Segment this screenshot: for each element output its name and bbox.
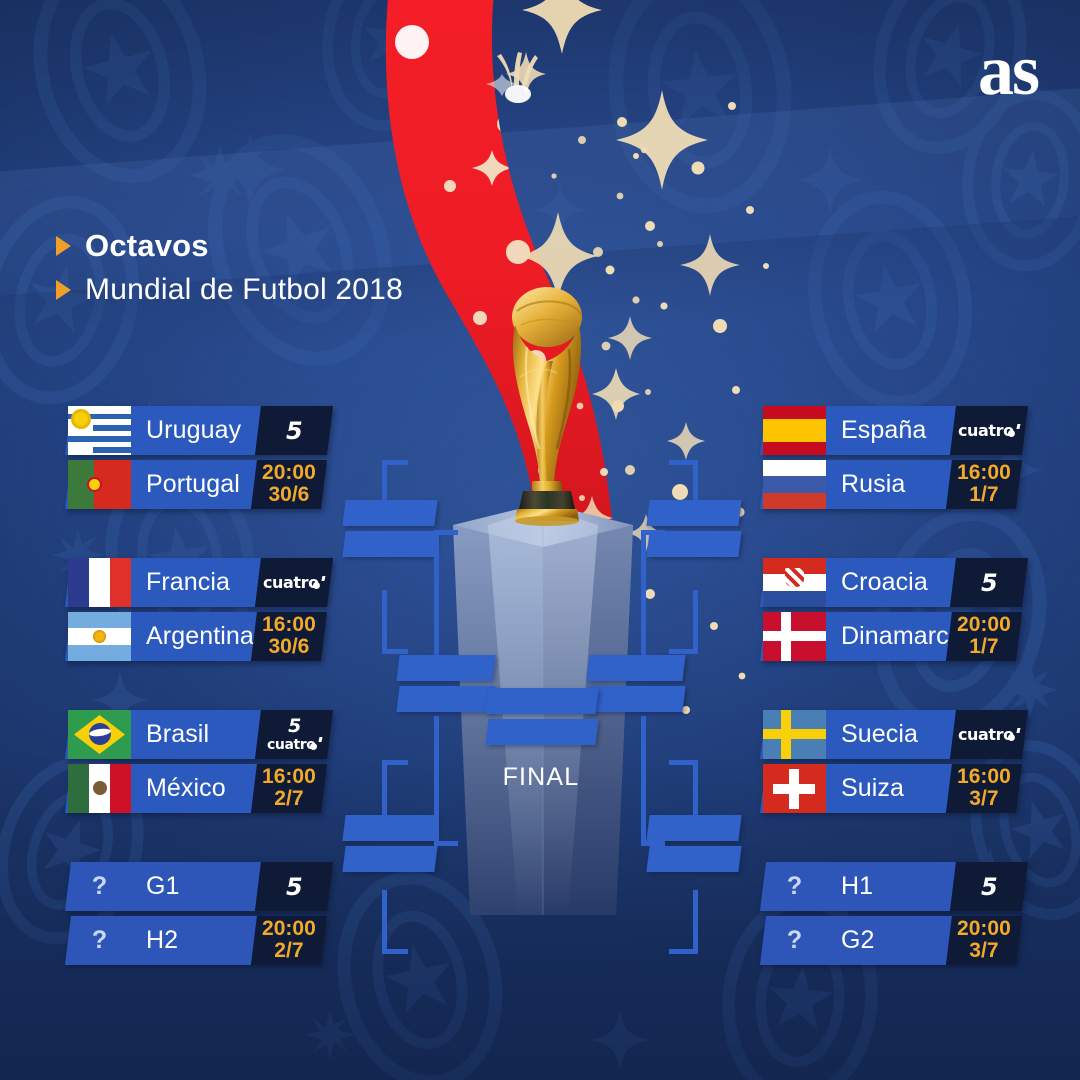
flag-portugal [68, 460, 131, 509]
flag-brasil [68, 710, 131, 759]
match-time: 16:003/7 [957, 766, 1011, 810]
bracket-line-stub [382, 460, 408, 465]
match-date: 30/6 [262, 485, 316, 507]
flag-francia [68, 558, 131, 607]
bracket-slot[interactable] [646, 815, 741, 841]
match-time: 20:002/7 [262, 918, 316, 962]
team-name: Francia [131, 568, 230, 597]
cuatro-logo: cuatro [958, 727, 1020, 743]
flag-suecia [763, 710, 826, 759]
time-badge[interactable]: 16:002/7 [251, 764, 327, 813]
bracket-line-stub [669, 649, 695, 654]
team-name: H1 [826, 872, 873, 901]
team-name: H2 [131, 926, 178, 955]
cuatro-logo: cuatro [263, 575, 325, 591]
match-time: 16:0030/6 [262, 614, 316, 658]
time-badge[interactable]: 20:003/7 [946, 916, 1022, 965]
bracket-slot[interactable] [396, 686, 495, 712]
team-name: Argentina [131, 622, 254, 651]
flag-espana [763, 406, 826, 455]
bracket-line-vertical [434, 716, 439, 846]
team-name: México [131, 774, 226, 803]
bracket-line-stub [434, 841, 458, 846]
bracket-line-stub [669, 760, 695, 765]
bracket-slot[interactable] [646, 500, 741, 526]
flag-suiza [763, 764, 826, 813]
bracket-slot[interactable] [396, 655, 495, 681]
channel-badge[interactable]: 5 [950, 558, 1028, 607]
bracket-line-stub [669, 949, 695, 954]
cuatro-logo: cuatro [267, 737, 322, 752]
unknown-team-icon: ? [68, 872, 131, 901]
triangle-bullet-icon [56, 280, 71, 300]
team-block[interactable]: Suiza [760, 764, 952, 813]
bracket-line-vertical [434, 530, 439, 660]
flag-dinamarca [763, 612, 826, 661]
bracket-slot[interactable] [586, 655, 685, 681]
triangle-bullet-icon [56, 236, 71, 256]
match-row[interactable]: Francia cuatro [68, 558, 330, 607]
title-row: Octavos [56, 228, 403, 264]
match-row[interactable]: Uruguay 5 [68, 406, 330, 455]
team-block[interactable]: Suecia [760, 710, 956, 759]
team-block[interactable]: ? H2 [65, 916, 257, 965]
team-block[interactable]: Croacia [760, 558, 956, 607]
match-time: 20:003/7 [957, 918, 1011, 962]
match-card[interactable]: ? H1 5 ? G2 20:003/7 [763, 862, 1025, 965]
team-block[interactable]: Francia [65, 558, 261, 607]
match-date: 2/7 [262, 941, 316, 963]
telecinco-logo: 5 [286, 419, 302, 443]
team-block[interactable]: México [65, 764, 257, 813]
bracket-slot[interactable] [646, 846, 741, 872]
match-row[interactable]: ? G2 20:003/7 [763, 916, 1025, 965]
match-row[interactable]: México 16:002/7 [68, 764, 330, 813]
team-block[interactable]: Portugal [65, 460, 257, 509]
match-time: 16:001/7 [957, 462, 1011, 506]
bracket-slot[interactable] [342, 500, 437, 526]
infographic-canvas: as Octavos Mundial de Futbol 2018 [0, 0, 1080, 1080]
page-title-block: Octavos Mundial de Futbol 2018 [56, 228, 403, 316]
team-block[interactable]: ? H1 [760, 862, 956, 911]
subtitle-row: Mundial de Futbol 2018 [56, 273, 403, 307]
channel-badge[interactable]: cuatro [950, 710, 1028, 759]
channel-badge[interactable]: 5cuatro [255, 710, 333, 759]
bracket-line-stub [641, 530, 665, 535]
bracket-line-stub [641, 841, 665, 846]
match-card[interactable]: Uruguay 5 Portugal 20:0030/6 [68, 406, 330, 509]
match-row[interactable]: Suecia cuatro [763, 710, 1025, 759]
flag-rusia [763, 460, 826, 509]
bracket-line-vertical [693, 590, 698, 654]
match-card[interactable]: Suecia cuatro Suiza 16:003/7 [763, 710, 1025, 813]
channel-badge[interactable]: 5 [255, 406, 333, 455]
match-row[interactable]: Suiza 16:003/7 [763, 764, 1025, 813]
channel-logo-group: 5cuatro [267, 717, 322, 752]
match-date: 30/6 [262, 637, 316, 659]
unknown-team-icon: ? [763, 872, 826, 901]
time-badge[interactable]: 20:001/7 [946, 612, 1022, 661]
bracket-line-vertical [382, 590, 387, 654]
match-row[interactable]: Portugal 20:0030/6 [68, 460, 330, 509]
telecinco-logo: 5 [981, 875, 997, 899]
unknown-team-icon: ? [68, 926, 131, 955]
team-name: Dinamarca [826, 622, 963, 651]
match-row[interactable]: Dinamarca 20:001/7 [763, 612, 1025, 661]
team-name: España [826, 416, 926, 445]
bracket-line-stub [669, 460, 695, 465]
telecinco-logo: 5 [286, 875, 302, 899]
final-slot-pair[interactable] [487, 688, 597, 745]
team-block[interactable]: Rusia [760, 460, 952, 509]
time-badge[interactable]: 16:003/7 [946, 764, 1022, 813]
team-name: G2 [826, 926, 875, 955]
semifinal-slot-pair[interactable] [588, 655, 684, 712]
match-card[interactable]: España cuatro Rusia 16:001/7 [763, 406, 1025, 509]
page-subtitle: Mundial de Futbol 2018 [85, 273, 403, 307]
time-badge[interactable]: 20:002/7 [251, 916, 327, 965]
quarterfinal-slot-pair[interactable] [344, 500, 436, 557]
match-row[interactable]: ? H2 20:002/7 [68, 916, 330, 965]
team-name: Uruguay [131, 416, 241, 445]
as-diario-logo[interactable]: as [978, 34, 1038, 106]
match-date: 1/7 [957, 485, 1011, 507]
team-name: Suiza [826, 774, 904, 803]
bracket-line-vertical [641, 530, 646, 660]
time-badge[interactable]: 16:001/7 [946, 460, 1022, 509]
match-date: 2/7 [262, 789, 316, 811]
bracket-line-vertical [693, 890, 698, 954]
match-date: 1/7 [957, 637, 1011, 659]
channel-badge[interactable]: cuatro [950, 406, 1028, 455]
match-row[interactable]: ? H1 5 [763, 862, 1025, 911]
match-date: 3/7 [957, 789, 1011, 811]
match-row[interactable]: Rusia 16:001/7 [763, 460, 1025, 509]
team-block[interactable]: ? G2 [760, 916, 952, 965]
team-name: Brasil [131, 720, 209, 749]
page-title: Octavos [85, 228, 209, 264]
channel-badge[interactable]: 5 [255, 862, 333, 911]
team-block[interactable]: Brasil [65, 710, 261, 759]
telecinco-logo: 5 [288, 717, 300, 736]
bracket-line-stub [382, 760, 408, 765]
flag-mexico [68, 764, 131, 813]
semifinal-slot-pair[interactable] [398, 655, 494, 712]
match-time: 20:0030/6 [262, 462, 316, 506]
match-row[interactable]: Brasil 5cuatro [68, 710, 330, 759]
world-cup-trophy [487, 277, 607, 529]
bracket-slot[interactable] [485, 688, 598, 714]
team-block[interactable]: Uruguay [65, 406, 261, 455]
flag-croacia [763, 558, 826, 607]
match-card[interactable]: Brasil 5cuatro México 16:002/7 [68, 710, 330, 813]
bracket-slot[interactable] [342, 846, 437, 872]
team-name: Croacia [826, 568, 928, 597]
team-name: G1 [131, 872, 180, 901]
telecinco-logo: 5 [981, 571, 997, 595]
final-label: FINAL [441, 763, 641, 792]
team-name: Suecia [826, 720, 918, 749]
match-card[interactable]: Francia cuatro Argentina 16:0030/6 [68, 558, 330, 661]
quarterfinal-slot-pair[interactable] [648, 500, 740, 557]
bracket-line-vertical [382, 890, 387, 954]
flag-uruguay [68, 406, 131, 455]
team-block[interactable]: Dinamarca [760, 612, 952, 661]
match-time: 16:002/7 [262, 766, 316, 810]
match-card[interactable]: ? G1 5 ? H2 20:002/7 [68, 862, 330, 965]
match-card[interactable]: Croacia 5 Dinamarca 20:001/7 [763, 558, 1025, 661]
time-badge[interactable]: 20:0030/6 [251, 460, 327, 509]
unknown-team-icon: ? [763, 926, 826, 955]
team-block[interactable]: Argentina [65, 612, 257, 661]
bracket-slot[interactable] [485, 719, 598, 745]
bracket-slot[interactable] [342, 815, 437, 841]
team-block[interactable]: España [760, 406, 956, 455]
bracket-slot[interactable] [586, 686, 685, 712]
match-row[interactable]: Croacia 5 [763, 558, 1025, 607]
match-row[interactable]: ? G1 5 [68, 862, 330, 911]
bracket-line-stub [434, 530, 458, 535]
team-name: Rusia [826, 470, 905, 499]
bracket-line-stub [382, 649, 408, 654]
flag-argentina [68, 612, 131, 661]
channel-badge[interactable]: cuatro [255, 558, 333, 607]
team-name: Portugal [131, 470, 240, 499]
team-block[interactable]: ? G1 [65, 862, 261, 911]
bracket-slot[interactable] [342, 531, 437, 557]
match-date: 3/7 [957, 941, 1011, 963]
channel-badge[interactable]: 5 [950, 862, 1028, 911]
cuatro-logo: cuatro [958, 423, 1020, 439]
bracket-line-vertical [641, 716, 646, 846]
quarterfinal-slot-pair[interactable] [344, 815, 436, 872]
match-row[interactable]: Argentina 16:0030/6 [68, 612, 330, 661]
match-time: 20:001/7 [957, 614, 1011, 658]
bracket-line-stub [382, 949, 408, 954]
time-badge[interactable]: 16:0030/6 [251, 612, 327, 661]
match-row[interactable]: España cuatro [763, 406, 1025, 455]
